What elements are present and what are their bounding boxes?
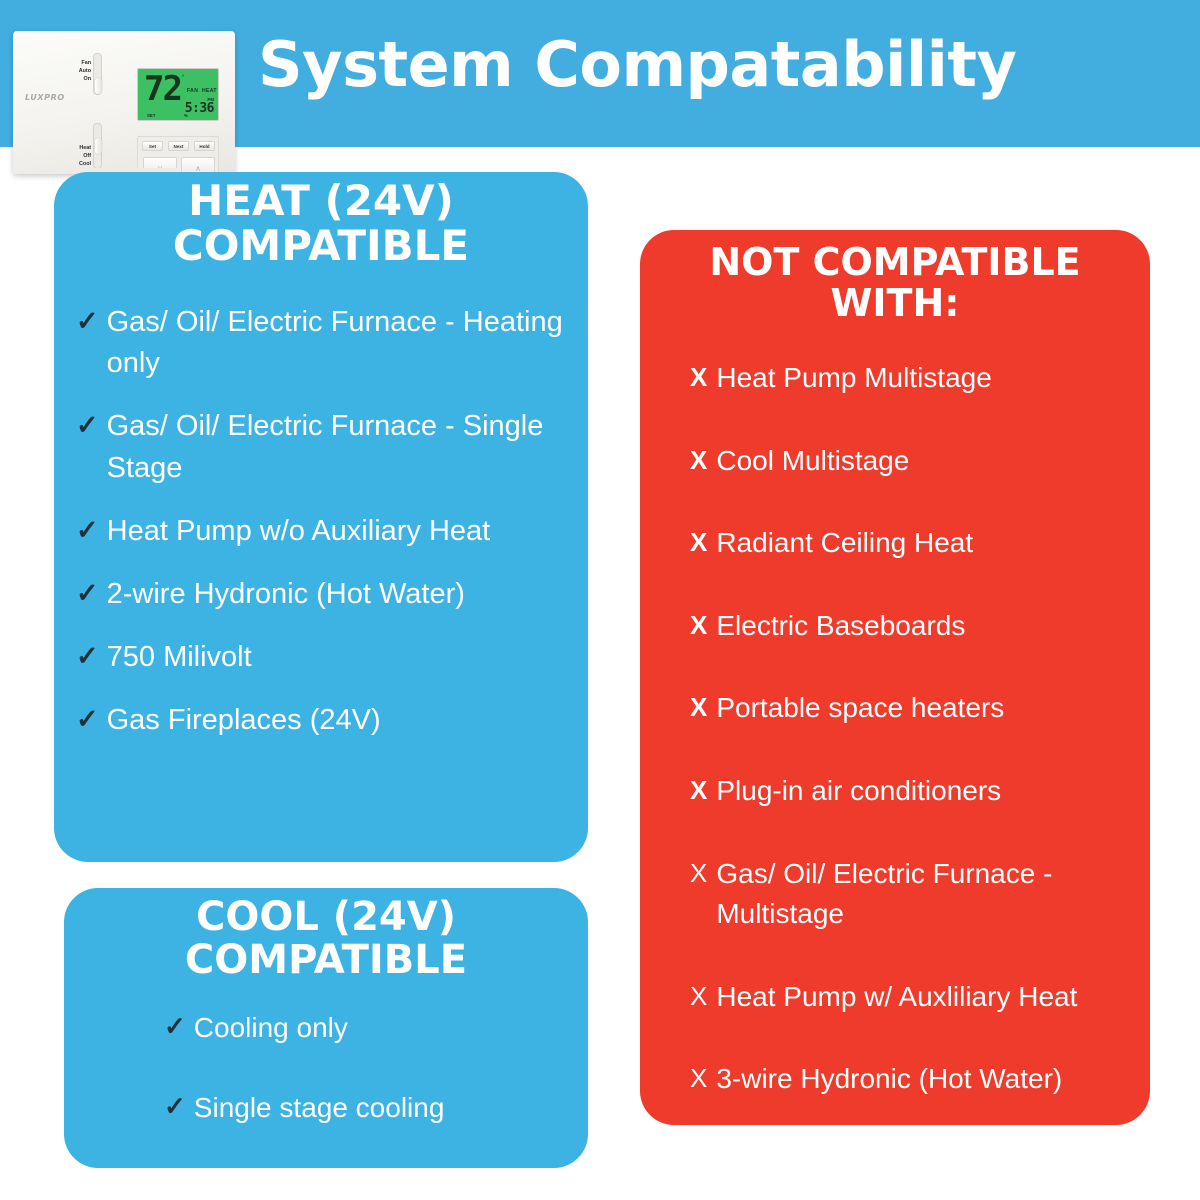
list-item: XHeat Pump w/ Auxliliary Heat [690,977,1132,1018]
cross-icon: X [690,606,707,644]
fan-switch-track[interactable] [93,53,102,95]
list-item: XCool Multistage [690,441,1132,482]
lcd-fan-indicator: FAN [187,88,198,94]
list-item-label: Gas Fireplaces (24V) [107,700,568,741]
cool-card-title: COOL (24V) COMPATIBLE [64,896,588,982]
list-item: ✓Gas/ Oil/ Electric Furnace - Heating on… [76,302,568,384]
auto-label: Auto [69,67,91,75]
list-item-label: Heat Pump w/o Auxiliary Heat [107,511,568,552]
cross-icon: X [690,854,707,892]
check-icon: ✓ [76,700,99,739]
mode-switch-knob[interactable] [95,138,102,154]
not-compatible-list: XHeat Pump MultistageXCool MultistageX R… [640,358,1150,1100]
list-item-label: 3-wire Hydronic (Hot Water) [716,1059,1132,1100]
list-item: XElectric Baseboards [690,606,1132,647]
heat-compatible-card: HEAT (24V) COMPATIBLE ✓Gas/ Oil/ Electri… [54,172,588,862]
thermostat-lcd-screen: 72 ° FAN HEAT PM 5:36 SET % [137,68,219,121]
cross-icon: X [690,358,707,396]
cross-icon: X [690,523,707,561]
check-icon: ✓ [76,637,99,676]
lcd-degree-symbol: ° [182,75,184,81]
mode-switch-labels: Heat Off Cool [69,144,91,169]
on-label: On [69,75,91,83]
check-icon: ✓ [164,1008,186,1046]
check-icon: ✓ [76,511,99,550]
list-item: XGas/ Oil/ Electric Furnace - Multistage [690,854,1132,935]
list-item-label: Cooling only [194,1008,564,1048]
list-item: ✓Heat Pump w/o Auxiliary Heat [76,511,568,552]
heat-card-title: HEAT (24V) COMPATIBLE [54,178,588,269]
cross-icon: X [690,1059,707,1097]
list-item-label: Heat Pump Multistage [716,358,1132,399]
lcd-clock: 5:36 [185,101,214,116]
list-item-label: 2-wire Hydronic (Hot Water) [107,574,568,615]
fan-switch-knob[interactable] [95,78,102,94]
list-item-label: Electric Baseboards [716,606,1132,647]
list-item-label: Radiant Ceiling Heat [716,523,1132,564]
not-compatible-card: NOT COMPATIBLE WITH: XHeat Pump Multista… [640,230,1150,1125]
cross-icon: X [690,977,707,1015]
list-item-label: Gas/ Oil/ Electric Furnace - Multistage [716,854,1132,935]
cross-icon: X [690,688,707,726]
list-item: ✓Single stage cooling [164,1088,564,1128]
list-item: ✓Cooling only [164,1008,564,1048]
list-item: ✓2-wire Hydronic (Hot Water) [76,574,568,615]
set-button[interactable]: Set [142,141,163,151]
lcd-heat-indicator: HEAT [202,88,217,94]
list-item: ✓750 Milivolt [76,637,568,678]
heat-compatible-list: ✓Gas/ Oil/ Electric Furnace - Heating on… [54,302,588,741]
lcd-temperature: 72 [144,71,181,107]
lcd-percent-indicator: % [184,113,188,118]
list-item: ✓Gas Fireplaces (24V) [76,700,568,741]
heat-label: Heat [69,144,91,152]
thermostat-image: LUXPRO Fan Auto On Heat Off Cool 72 ° FA… [13,31,235,174]
fan-label: Fan [69,59,91,67]
list-item: X Radiant Ceiling Heat [690,523,1132,564]
list-item-label: Gas/ Oil/ Electric Furnace - Single Stag… [107,406,568,488]
list-item-label: Plug-in air conditioners [716,771,1132,812]
cool-compatible-list: ✓Cooling only✓Single stage cooling [64,1008,588,1128]
list-item-label: Heat Pump w/ Auxliliary Heat [716,977,1132,1018]
hold-button[interactable]: Hold [194,141,215,151]
list-item-label: Cool Multistage [716,441,1132,482]
cool-compatible-card: COOL (24V) COMPATIBLE ✓Cooling only✓Sing… [64,888,588,1168]
check-icon: ✓ [76,574,99,613]
page-title: System Compatability [258,28,1016,101]
thermostat-brand-logo: LUXPRO [25,93,65,102]
list-item: X3-wire Hydronic (Hot Water) [690,1059,1132,1100]
not-compatible-card-title: NOT COMPATIBLE WITH: [640,242,1150,324]
list-item: XHeat Pump Multistage [690,358,1132,399]
fan-switch-labels: Fan Auto On [69,59,91,84]
list-item-label: Single stage cooling [194,1088,564,1128]
check-icon: ✓ [76,406,99,445]
mode-switch-track[interactable] [93,123,102,169]
list-item: ✓Gas/ Oil/ Electric Furnace - Single Sta… [76,406,568,488]
off-label: Off [69,152,91,160]
list-item: XPortable space heaters [690,688,1132,729]
lcd-set-indicator: SET [147,113,156,118]
list-item-label: Portable space heaters [716,688,1132,729]
list-item-label: 750 Milivolt [107,637,568,678]
infographic-page: System Compatability LUXPRO Fan Auto On … [0,0,1200,1200]
next-button[interactable]: Next [168,141,189,151]
cross-icon: X [690,771,707,809]
cross-icon: X [690,441,707,479]
check-icon: ✓ [164,1088,186,1126]
list-item: XPlug-in air conditioners [690,771,1132,812]
check-icon: ✓ [76,302,99,341]
list-item-label: Gas/ Oil/ Electric Furnace - Heating onl… [107,302,568,384]
